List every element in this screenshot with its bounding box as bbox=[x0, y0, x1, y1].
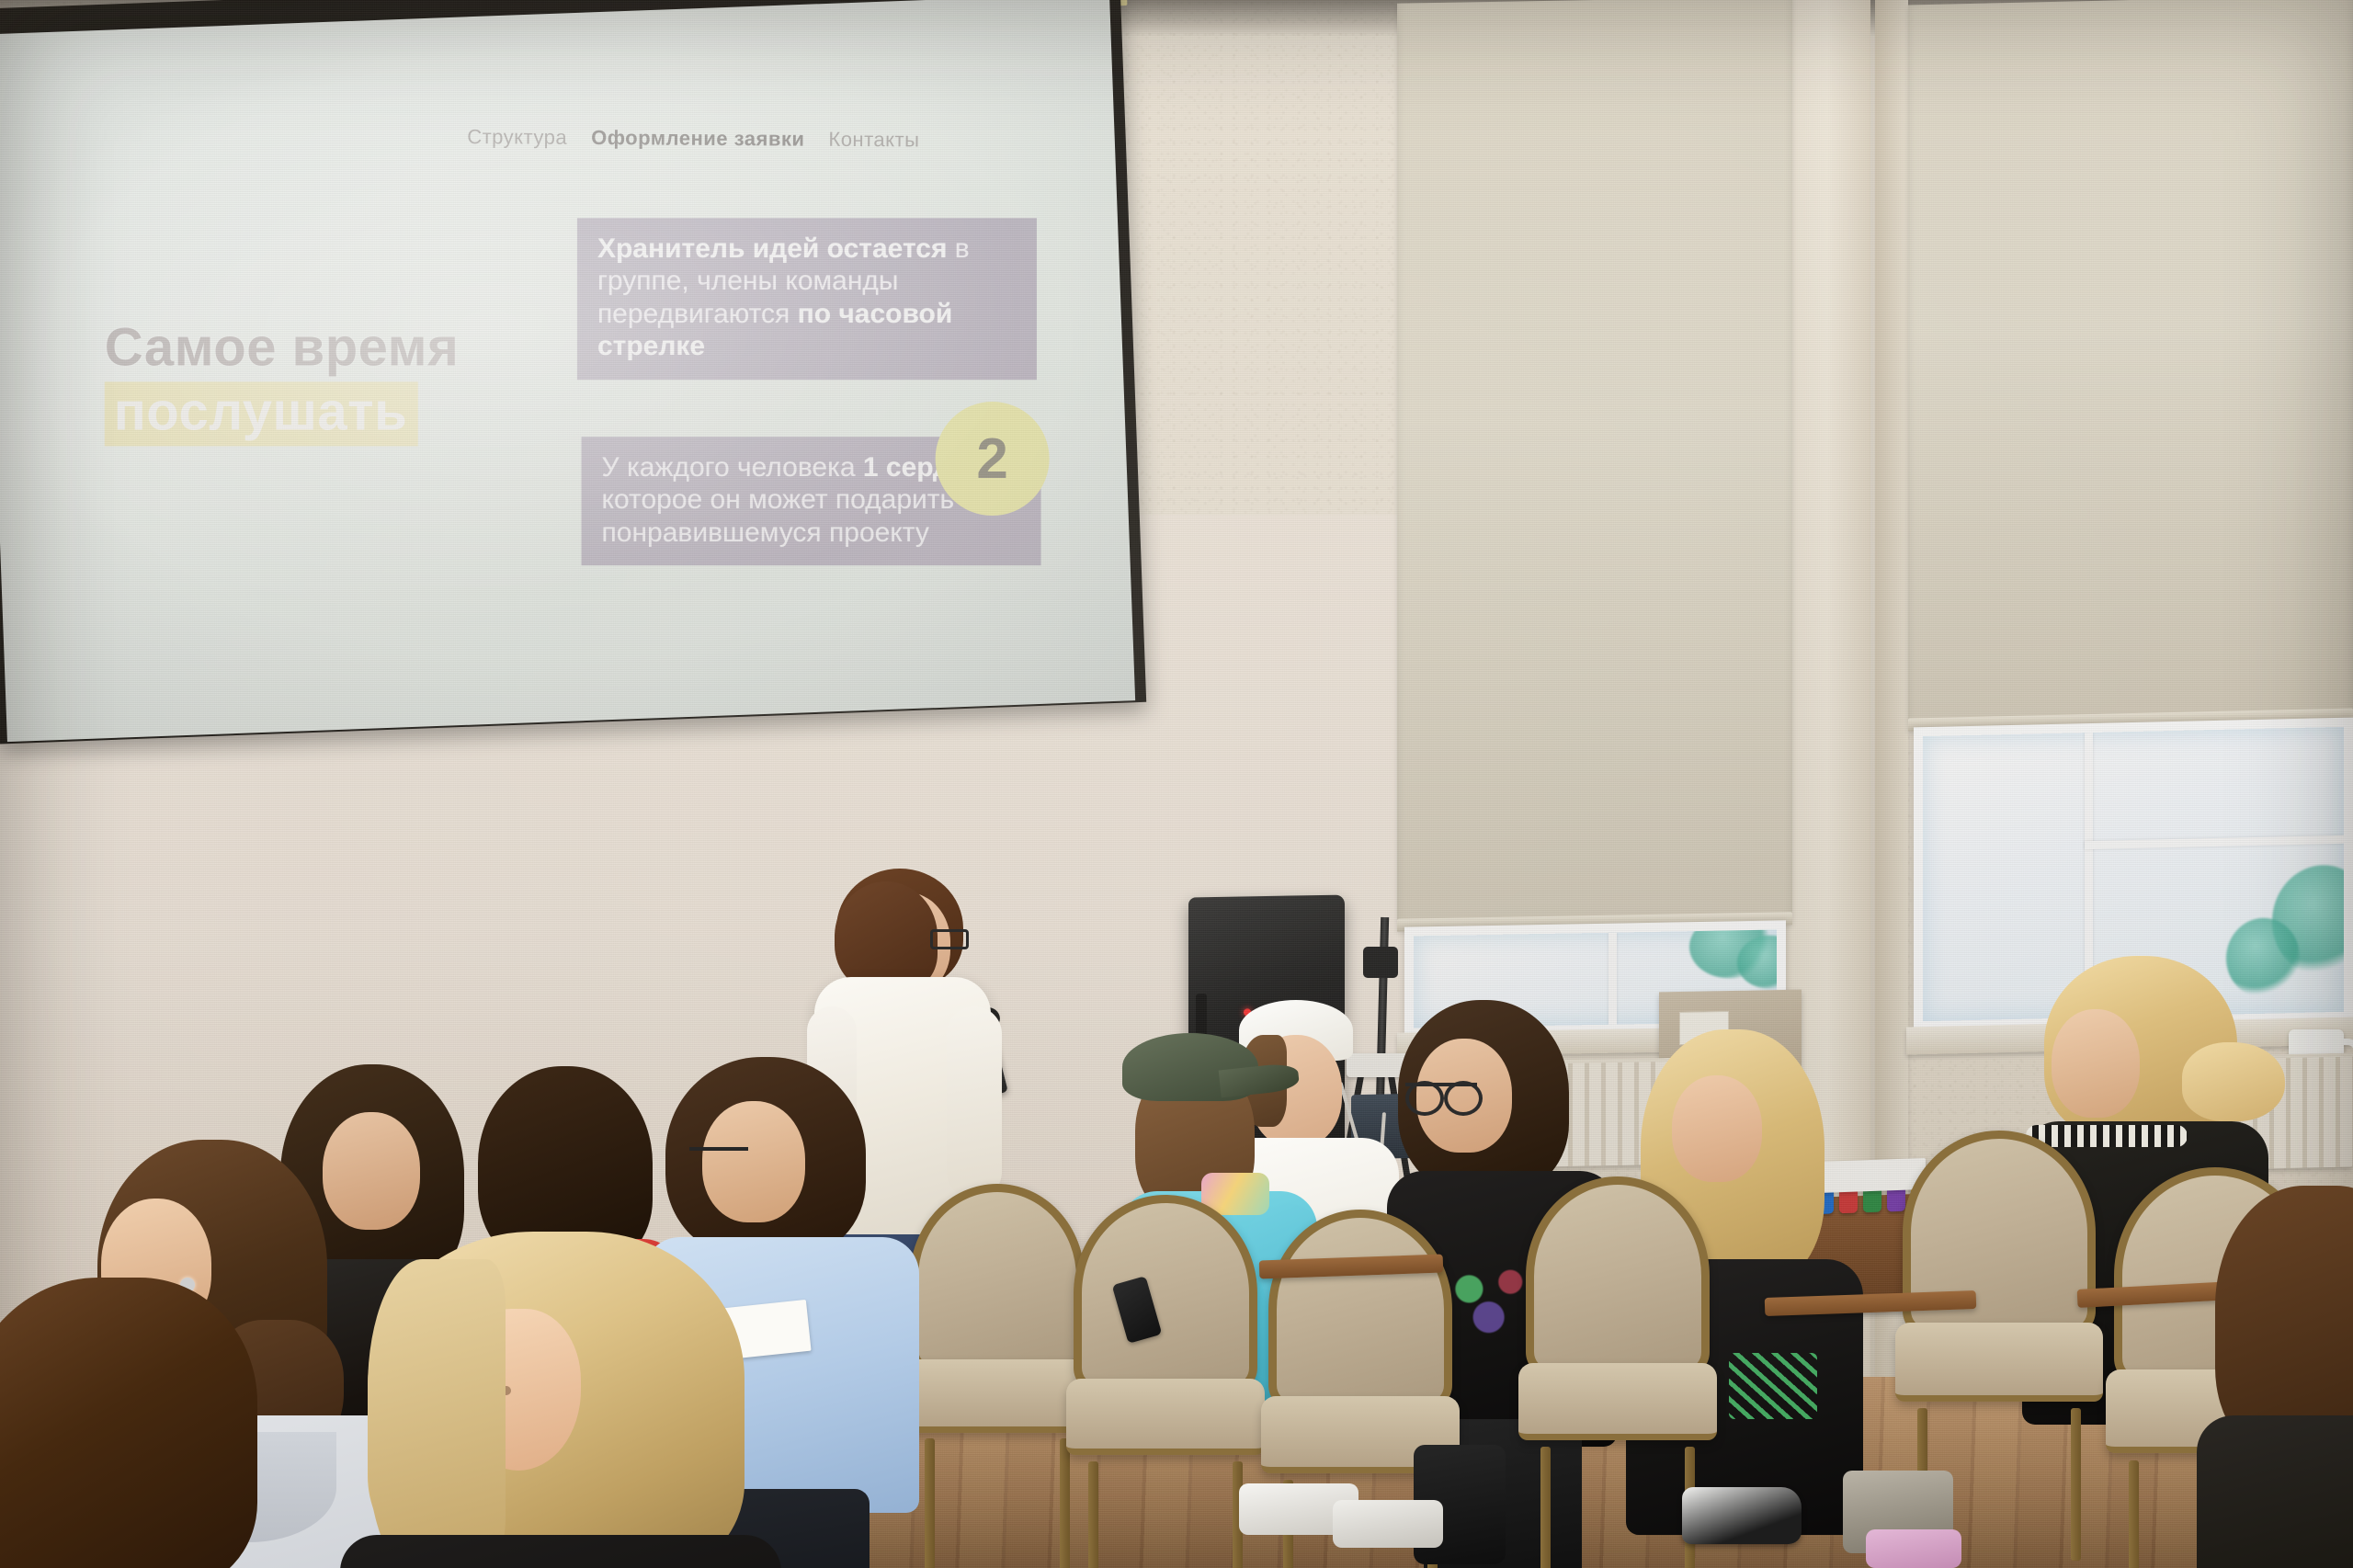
supervisor-ponytail bbox=[2182, 1042, 2285, 1121]
attendee-head bbox=[1672, 1075, 1762, 1182]
attendee-front-blonde bbox=[368, 1232, 754, 1568]
sneaker bbox=[1333, 1500, 1443, 1548]
slide-box-2-lead: У каждого человека bbox=[602, 452, 863, 483]
slide-title: Самое время послушать bbox=[105, 321, 620, 446]
roller-blind-right[interactable] bbox=[1908, 0, 2353, 731]
projection-screen-assembly: Структура Оформление заявки Контакты Сам… bbox=[0, 0, 1176, 762]
glasses-icon bbox=[689, 1147, 748, 1173]
chair-seat bbox=[1066, 1379, 1265, 1455]
attendee-dark-top bbox=[2197, 1415, 2353, 1568]
slipper bbox=[1866, 1529, 1961, 1568]
attendee-hair-side bbox=[368, 1259, 506, 1568]
projection-screen-border: Структура Оформление заявки Контакты Сам… bbox=[0, 0, 1146, 744]
photo-scene: Структура Оформление заявки Контакты Сам… bbox=[0, 0, 2353, 1568]
glasses-lens-left bbox=[1405, 1081, 1444, 1116]
banquet-chair[interactable] bbox=[1074, 1195, 1257, 1512]
chair-backrest bbox=[1526, 1176, 1710, 1376]
slide-nav: Структура Оформление заявки Контакты bbox=[467, 125, 919, 152]
slide-nav-item-oformlenie[interactable]: Оформление заявки bbox=[591, 126, 804, 152]
projection-screen-surface: Структура Оформление заявки Контакты Сам… bbox=[0, 0, 1135, 742]
chair-backrest bbox=[910, 1184, 1085, 1372]
chair-seat bbox=[1518, 1363, 1717, 1440]
roller-blind-center[interactable] bbox=[1397, 0, 1792, 932]
slide-text-box-1: Хранитель идей остается в группе, члены … bbox=[577, 218, 1037, 380]
slide-box-1-bold-lead: Хранитель идей остается bbox=[597, 233, 948, 264]
chair-backrest bbox=[1268, 1210, 1452, 1409]
banquet-chair[interactable] bbox=[1526, 1176, 1710, 1498]
banquet-chair[interactable] bbox=[910, 1184, 1085, 1487]
attendee-right-edge bbox=[2215, 1186, 2353, 1568]
chair-seat bbox=[903, 1359, 1091, 1433]
glasses-icon bbox=[930, 929, 969, 949]
sleeve-print bbox=[1729, 1353, 1817, 1419]
slide-nav-item-struktura[interactable]: Структура bbox=[467, 125, 567, 150]
slide-title-line-1: Самое время bbox=[105, 321, 620, 374]
attendee-dark-top bbox=[340, 1535, 781, 1568]
attendee-front-brunette bbox=[0, 1278, 267, 1568]
slide-step-badge: 2 bbox=[936, 402, 1050, 516]
marker-green bbox=[1863, 1188, 1881, 1213]
sneaker bbox=[1682, 1487, 1802, 1544]
presenter-arm-right bbox=[947, 1006, 1002, 1199]
slide-title-line-2-highlight: послушать bbox=[105, 381, 418, 446]
supervisor-head bbox=[2052, 1009, 2140, 1118]
presenter-hair-front bbox=[835, 881, 938, 992]
chair-seat bbox=[1895, 1323, 2104, 1402]
attendee-brown-hair bbox=[0, 1278, 257, 1568]
presentation-slide: Структура Оформление заявки Контакты Сам… bbox=[0, 2, 1130, 733]
microphone-stand-clamp bbox=[1363, 947, 1398, 978]
glasses-lens-right bbox=[1444, 1081, 1483, 1116]
chair-backrest bbox=[1074, 1195, 1257, 1392]
slide-nav-item-kontakty[interactable]: Контакты bbox=[828, 128, 919, 153]
